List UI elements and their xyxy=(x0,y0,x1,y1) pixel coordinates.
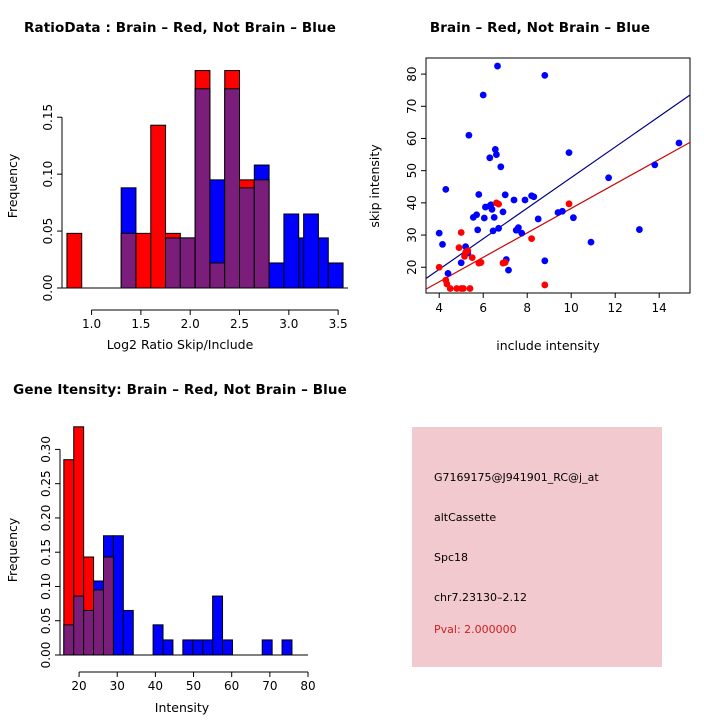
scatter-point xyxy=(493,151,500,158)
info-event-type: altCassette xyxy=(434,511,496,524)
histogram-bar xyxy=(223,640,233,655)
histogram-bar xyxy=(163,640,173,655)
info-pval: Pval: 2.000000 xyxy=(434,623,517,636)
scatter-point xyxy=(495,225,502,232)
y-axis-tick-label: 0.25 xyxy=(39,470,53,497)
scatter-points xyxy=(436,63,683,292)
histogram-bar xyxy=(151,125,166,288)
histogram-bar xyxy=(213,596,223,655)
scatter-point xyxy=(676,140,683,147)
scatter-point xyxy=(478,259,485,266)
scatter-point xyxy=(475,191,482,198)
scatter-point xyxy=(502,191,509,198)
histogram-bar xyxy=(328,263,343,288)
histogram-bar-overlap xyxy=(94,590,104,655)
x-axis-tick-label: 80 xyxy=(300,679,315,693)
scatter-point xyxy=(436,264,443,271)
scatter-point xyxy=(458,229,465,236)
histogram-bar-overlap xyxy=(180,238,195,288)
scatter-point xyxy=(505,267,512,274)
scatter-point xyxy=(530,193,537,200)
y-axis-tick-label: 0.00 xyxy=(41,275,55,302)
scatter-point xyxy=(456,244,463,251)
histogram-bar xyxy=(284,214,299,288)
ratio-histogram-svg: 0.000.050.100.151.01.52.02.53.03.5 Frequ… xyxy=(0,0,360,360)
scatter-point xyxy=(436,230,443,237)
scatter-point xyxy=(541,282,548,289)
scatter-point xyxy=(541,257,548,264)
x-axis-tick-label: 40 xyxy=(148,679,163,693)
scatter-point xyxy=(494,63,501,70)
scatter-point xyxy=(535,216,542,223)
histogram-bar xyxy=(113,536,123,655)
scatter-title: Brain – Red, Not Brain – Blue xyxy=(360,20,720,36)
x-axis-tick-label: 20 xyxy=(71,679,86,693)
y-axis-tick-label: 40 xyxy=(405,195,419,210)
scatter-point xyxy=(651,161,658,168)
gene-histogram-bars xyxy=(64,427,292,655)
scatter-point xyxy=(445,270,452,277)
scatter-point xyxy=(570,214,577,221)
scatter-point xyxy=(491,214,498,221)
histogram-bar-overlap xyxy=(64,625,74,655)
scatter-point xyxy=(469,254,476,261)
scatter-point xyxy=(474,227,481,234)
y-axis-tick-label: 70 xyxy=(405,99,419,114)
histogram-bar xyxy=(304,214,319,288)
scatter-point xyxy=(518,230,525,237)
scatter-ylabel: skip intensity xyxy=(367,144,382,228)
y-axis-tick-label: 0.05 xyxy=(39,607,53,634)
y-axis-tick-label: 20 xyxy=(405,260,419,275)
histogram-bar-overlap xyxy=(166,238,181,288)
x-axis-tick-label: 1.5 xyxy=(131,317,150,331)
y-axis-tick-label: 0.30 xyxy=(39,436,53,463)
gene-histogram-title: Gene Itensity: Brain – Red, Not Brain – … xyxy=(0,382,360,398)
scatter-point xyxy=(511,197,518,204)
histogram-bar xyxy=(282,640,292,655)
y-axis-tick-label: 50 xyxy=(405,163,419,178)
x-axis-tick-label: 2.0 xyxy=(181,317,200,331)
histogram-bar-overlap xyxy=(225,89,240,288)
scatter-point xyxy=(480,92,487,99)
ratio-histogram-ylabel: Frequency xyxy=(5,153,20,218)
histogram-bar-overlap xyxy=(103,557,113,655)
histogram-bar-overlap xyxy=(121,233,136,288)
y-axis-tick-label: 0.15 xyxy=(41,104,55,131)
ratio-histogram-xlabel: Log2 Ratio Skip/Include xyxy=(107,337,254,352)
histogram-bar-overlap xyxy=(240,188,255,288)
scatter-point xyxy=(636,226,643,233)
x-axis-tick-label: 3.5 xyxy=(329,317,348,331)
ratio-histogram-bars xyxy=(67,71,343,288)
y-axis-tick-label: 0.15 xyxy=(39,539,53,566)
scatter-fit-lines xyxy=(426,95,690,289)
gene-histogram-ylabel: Frequency xyxy=(5,517,20,582)
histogram-bar xyxy=(67,233,82,288)
scatter-point xyxy=(522,197,529,204)
scatter-point xyxy=(473,211,480,218)
x-axis-tick-label: 6 xyxy=(479,301,487,315)
histogram-bar-overlap xyxy=(254,180,269,288)
info-probe-id: G7169175@J941901_RC@j_at xyxy=(434,471,599,484)
y-axis-tick-label: 30 xyxy=(405,227,419,242)
scatter-point xyxy=(481,215,488,222)
panel-ratio-histogram: RatioData : Brain – Red, Not Brain – Blu… xyxy=(0,0,360,360)
figure-canvas: RatioData : Brain – Red, Not Brain – Blu… xyxy=(0,0,720,720)
scatter-point xyxy=(439,241,446,248)
x-axis-tick-label: 70 xyxy=(262,679,277,693)
x-axis-tick-label: 30 xyxy=(110,679,125,693)
scatter-point xyxy=(486,154,493,161)
scatter-point xyxy=(489,206,496,213)
scatter-point xyxy=(566,200,573,207)
scatter-point xyxy=(467,285,474,292)
y-axis-tick-label: 0.20 xyxy=(39,505,53,532)
scatter-point xyxy=(559,208,566,215)
ratio-histogram-axes: 0.000.050.100.151.01.52.02.53.03.5 xyxy=(41,104,348,331)
scatter-svg: 20304050607080468101214 skip intensity i… xyxy=(360,0,720,360)
scatter-point xyxy=(500,208,507,215)
panel-gene-histogram: Gene Itensity: Brain – Red, Not Brain – … xyxy=(0,360,360,720)
x-axis-tick-label: 8 xyxy=(523,301,531,315)
histogram-bar-overlap xyxy=(210,263,225,288)
x-axis-tick-label: 2.5 xyxy=(230,317,249,331)
scatter-point xyxy=(442,186,449,193)
scatter-point xyxy=(495,201,502,208)
x-axis-tick-label: 1.0 xyxy=(82,317,101,331)
scatter-point xyxy=(458,259,465,266)
histogram-bar xyxy=(183,640,193,655)
histogram-bar xyxy=(153,625,163,655)
histogram-bar-overlap xyxy=(74,596,84,655)
x-axis-tick-label: 10 xyxy=(564,301,579,315)
x-axis-tick-label: 60 xyxy=(224,679,239,693)
y-axis-tick-label: 80 xyxy=(405,66,419,81)
histogram-bar-overlap xyxy=(84,610,94,655)
gene-info-panel: G7169175@J941901_RC@j_at altCassette Spc… xyxy=(412,427,662,667)
x-axis-tick-label: 3.0 xyxy=(279,317,298,331)
scatter-point xyxy=(566,149,573,156)
x-axis-tick-label: 50 xyxy=(186,679,201,693)
gene-histogram-svg: 0.000.050.100.150.200.250.30203040506070… xyxy=(0,360,360,720)
histogram-bar xyxy=(203,640,213,655)
y-axis-tick-label: 0.10 xyxy=(41,161,55,188)
x-axis-tick-label: 12 xyxy=(608,301,623,315)
scatter-xlabel: include intensity xyxy=(496,338,600,353)
gene-histogram-xlabel: Intensity xyxy=(155,700,210,715)
scatter-point xyxy=(588,239,595,246)
panel-scatter: Brain – Red, Not Brain – Blue 2030405060… xyxy=(360,0,720,360)
histogram-bar xyxy=(123,610,133,655)
scatter-point xyxy=(466,132,473,139)
scatter-point xyxy=(464,247,471,254)
scatter-point xyxy=(460,285,467,292)
histogram-bar xyxy=(269,263,284,288)
scatter-point xyxy=(497,163,504,170)
histogram-bar xyxy=(136,233,151,288)
x-axis-tick-label: 4 xyxy=(435,301,443,315)
scatter-point xyxy=(605,174,612,181)
y-axis-tick-label: 60 xyxy=(405,131,419,146)
y-axis-tick-label: 0.05 xyxy=(41,218,55,245)
info-locus: chr7.23130–2.12 xyxy=(434,591,527,604)
y-axis-tick-label: 0.10 xyxy=(39,573,53,600)
ratio-histogram-title: RatioData : Brain – Red, Not Brain – Blu… xyxy=(0,20,360,36)
y-axis-tick-label: 0.00 xyxy=(39,642,53,669)
histogram-bar-overlap xyxy=(195,89,210,288)
histogram-bar xyxy=(193,640,203,655)
scatter-point xyxy=(541,72,548,79)
histogram-bar xyxy=(262,640,272,655)
scatter-point xyxy=(528,235,535,242)
x-axis-tick-label: 14 xyxy=(652,301,667,315)
scatter-point xyxy=(447,285,454,292)
info-gene-symbol: Spc18 xyxy=(434,551,468,564)
scatter-point xyxy=(502,259,509,266)
